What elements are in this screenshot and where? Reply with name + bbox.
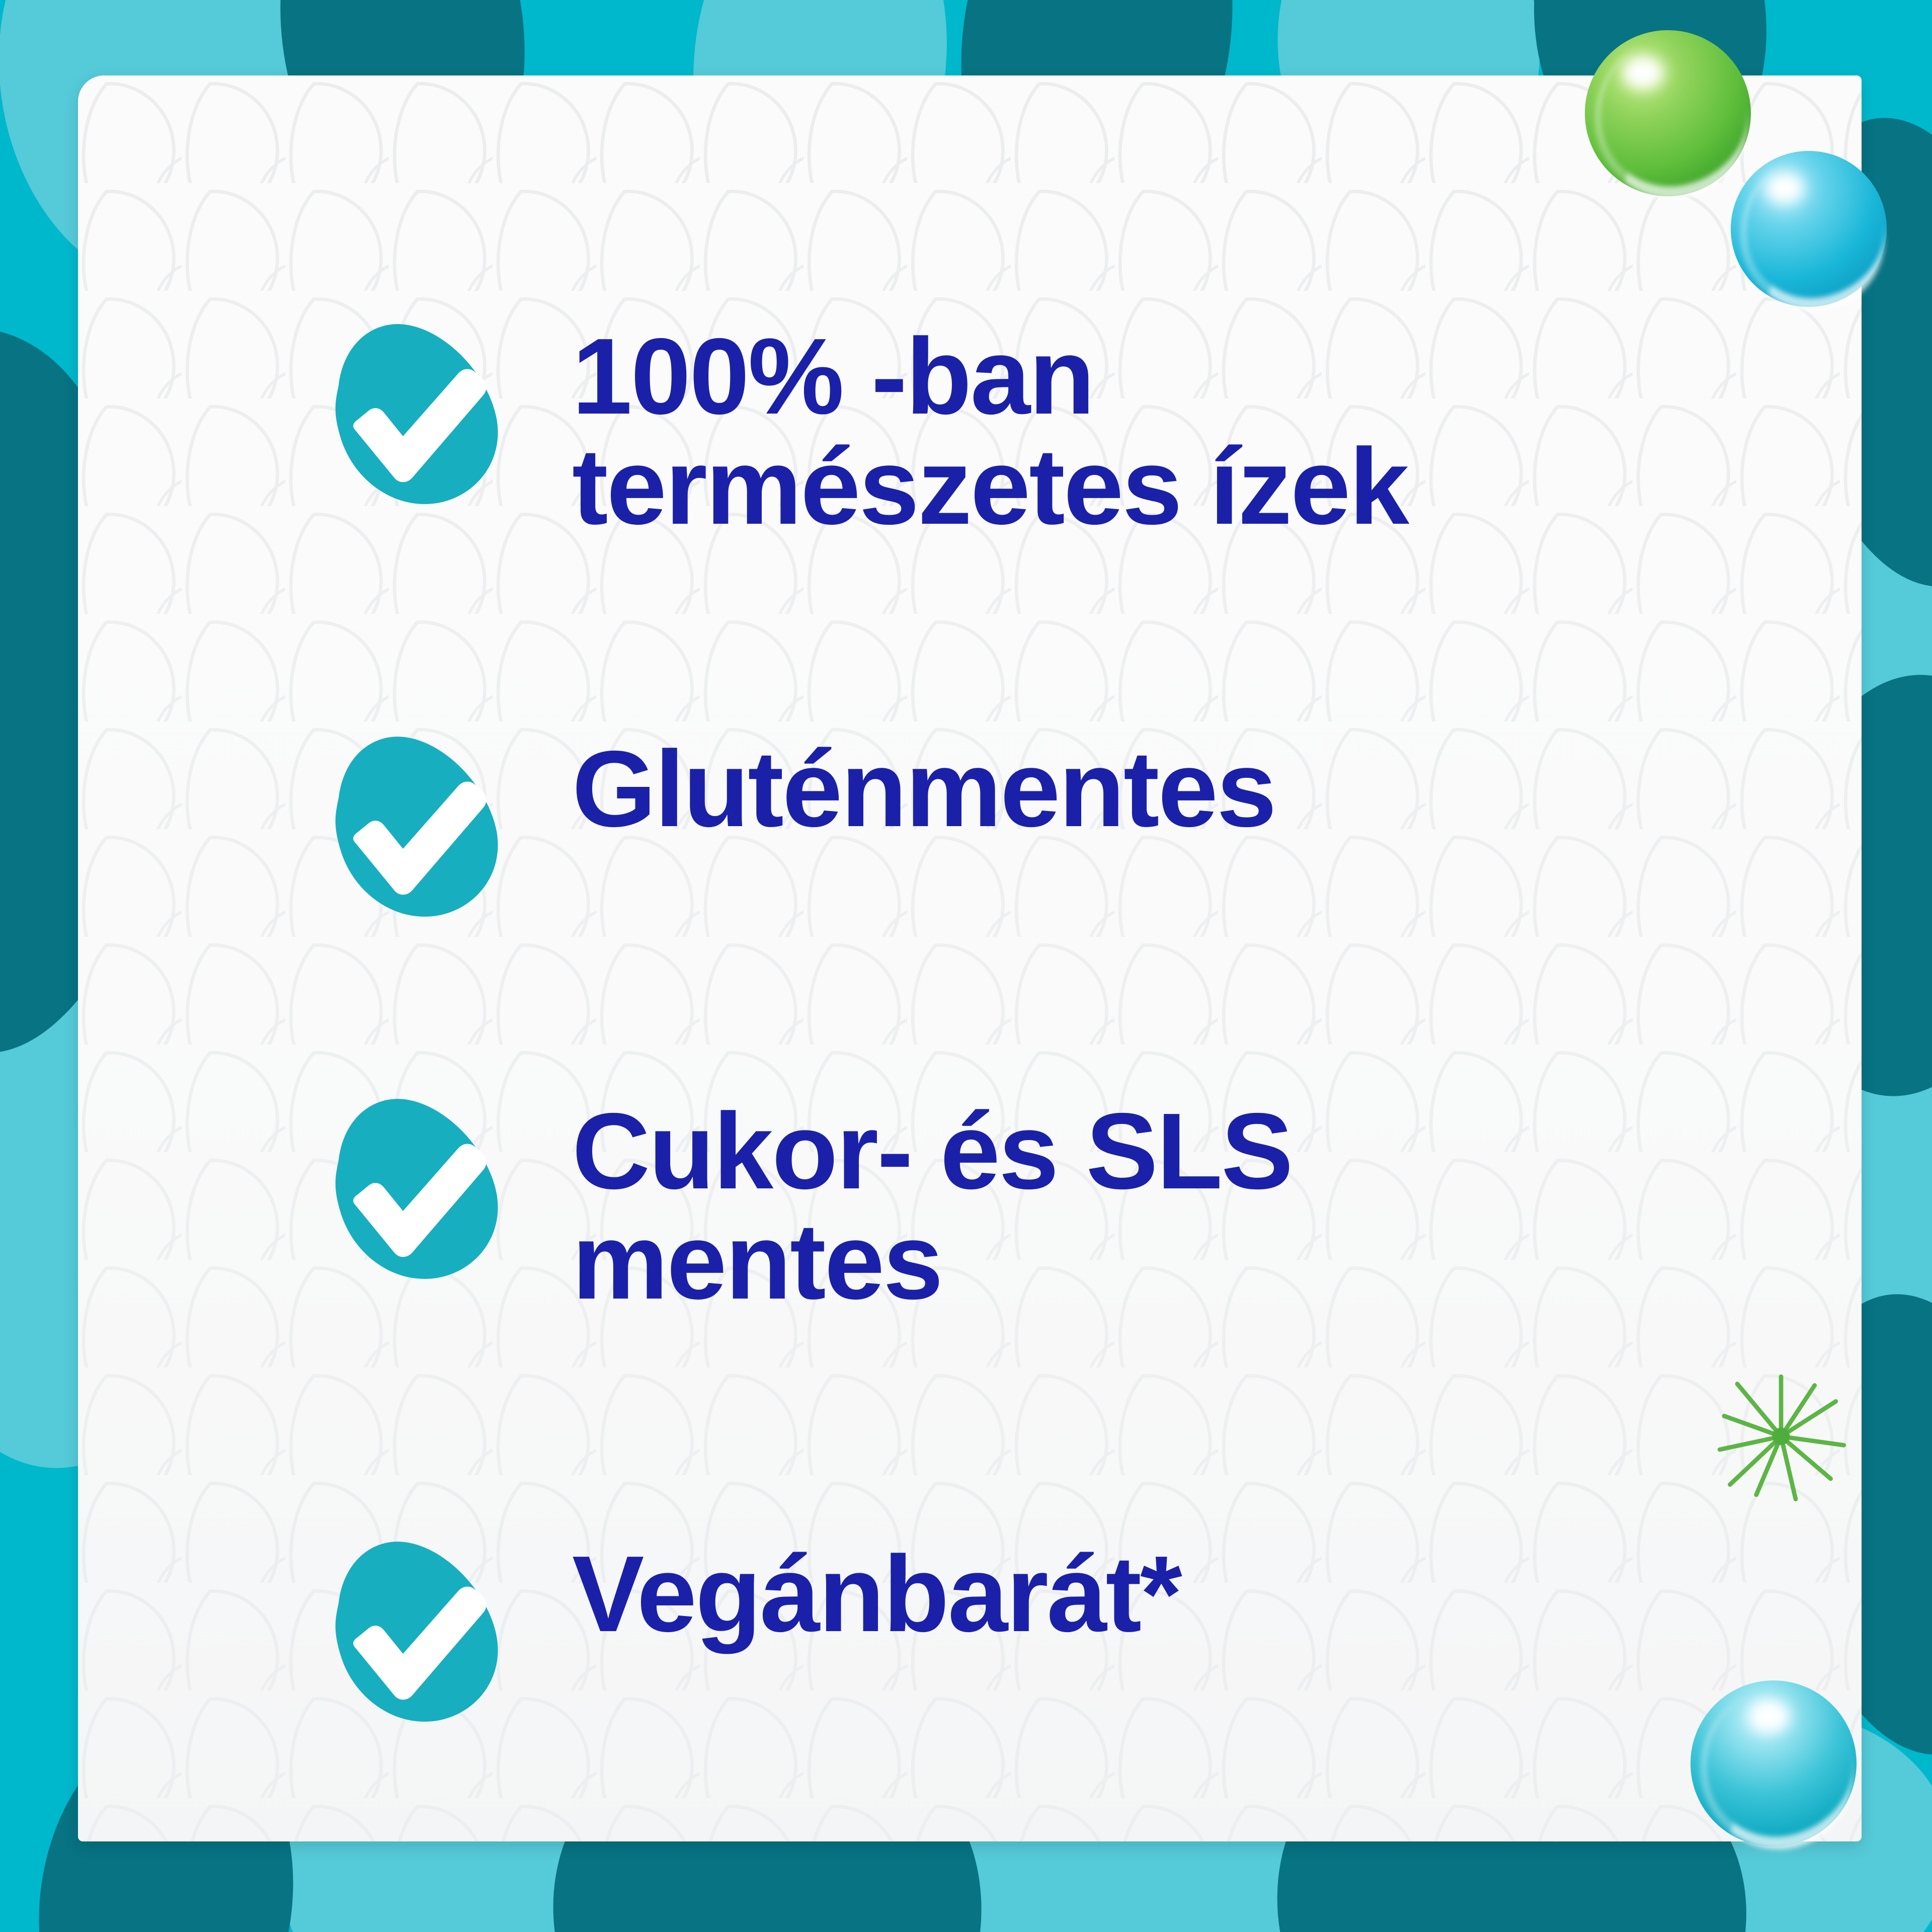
benefit-row-0: 100% -ban természetes ízek [309,312,1408,542]
bubble-highlight [1765,173,1804,204]
benefit-row-1: Gluténmentes [309,725,1275,926]
check-shield-icon [309,725,511,926]
benefit-row-3: Vegánbarát* [309,1530,1181,1731]
benefit-text-1: Gluténmentes [572,734,1275,844]
check-shield-icon [309,312,511,513]
content-card: 100% -ban természetes ízek Gluténmentes … [78,75,1862,1841]
cyan-bubble-top [1731,151,1887,307]
bubble-highlight [1622,55,1665,90]
benefit-row-2: Cukor- és SLS mentes [309,1087,1292,1317]
bubble-highlight [1750,1701,1790,1732]
benefit-text-2: Cukor- és SLS mentes [572,1096,1292,1317]
sparkle-icon [1708,1363,1854,1509]
benefit-text-0: 100% -ban természetes ízek [572,321,1408,542]
cyan-bubble-bottom [1691,1680,1857,1846]
benefit-list: 100% -ban természetes ízek Gluténmentes … [78,75,1862,1841]
check-shield-icon [309,1530,511,1731]
check-shield-icon [309,1087,511,1288]
benefit-text-3: Vegánbarát* [572,1539,1181,1649]
green-bubble [1585,30,1751,196]
